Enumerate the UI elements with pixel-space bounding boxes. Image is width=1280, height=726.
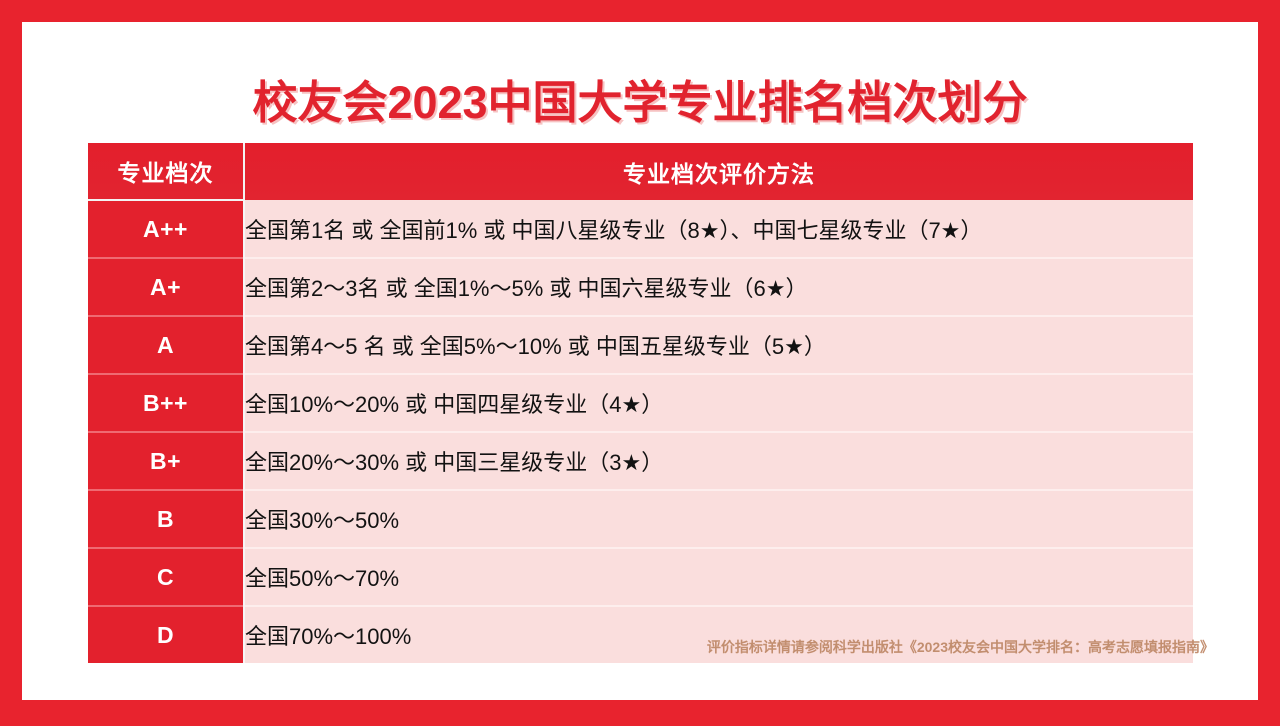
grade-table: 专业档次 专业档次评价方法 A++ 全国第1名 或 全国前1% 或 中国八星级专… (88, 143, 1193, 663)
table-row: B 全国30%～50% (88, 490, 1193, 548)
table-body: A++ 全国第1名 或 全国前1% 或 中国八星级专业（8★）、中国七星级专业（… (88, 200, 1193, 663)
table-header-row: 专业档次 专业档次评价方法 (88, 143, 1193, 200)
header-grade: 专业档次 (88, 143, 244, 200)
table-row: A+ 全国第2～3名 或 全国1%～5% 或 中国六星级专业（6★） (88, 258, 1193, 316)
header-method: 专业档次评价方法 (244, 143, 1193, 200)
table-row: A++ 全国第1名 或 全国前1% 或 中国八星级专业（8★）、中国七星级专业（… (88, 200, 1193, 258)
grade-label: B (88, 490, 244, 548)
grade-label: C (88, 548, 244, 606)
source-note: 评价指标详情请参阅科学出版社《2023校友会中国大学排名：高考志愿填报指南》 (22, 637, 1258, 657)
method-text: 全国50%～70% (244, 548, 1193, 606)
grade-label: B++ (88, 374, 244, 432)
grade-label: A++ (88, 200, 244, 258)
table-row: C 全国50%～70% (88, 548, 1193, 606)
page-title: 校友会2023中国大学专业排名档次划分 (22, 66, 1258, 131)
grade-label: A+ (88, 258, 244, 316)
method-text: 全国第1名 或 全国前1% 或 中国八星级专业（8★）、中国七星级专业（7★） (244, 200, 1193, 258)
table-row: B+ 全国20%～30% 或 中国三星级专业（3★） (88, 432, 1193, 490)
method-text: 全国第2～3名 或 全国1%～5% 或 中国六星级专业（6★） (244, 258, 1193, 316)
table-row: A 全国第4～5 名 或 全国5%～10% 或 中国五星级专业（5★） (88, 316, 1193, 374)
method-text: 全国20%～30% 或 中国三星级专业（3★） (244, 432, 1193, 490)
method-text: 全国10%～20% 或 中国四星级专业（4★） (244, 374, 1193, 432)
method-text: 全国第4～5 名 或 全国5%～10% 或 中国五星级专业（5★） (244, 316, 1193, 374)
table-row: B++ 全国10%～20% 或 中国四星级专业（4★） (88, 374, 1193, 432)
method-text: 全国30%～50% (244, 490, 1193, 548)
grade-label: B+ (88, 432, 244, 490)
grade-label: A (88, 316, 244, 374)
poster-frame: 校友会2023中国大学专业排名档次划分 专业档次 专业档次评价方法 A++ 全国… (22, 22, 1258, 700)
